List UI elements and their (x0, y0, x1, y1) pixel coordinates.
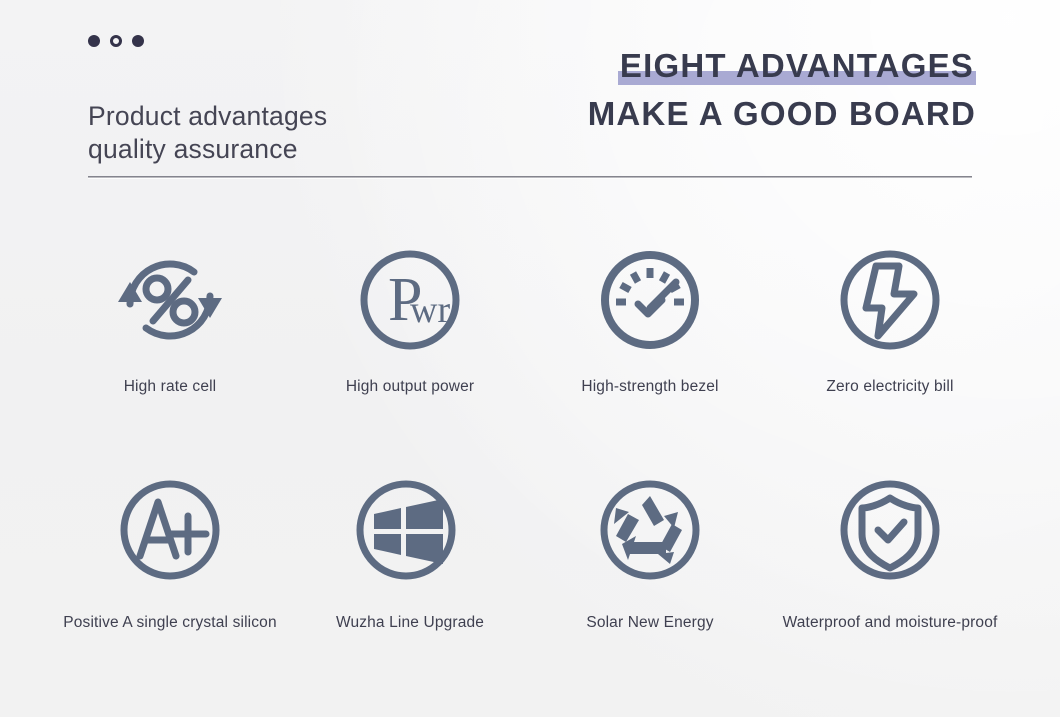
right-heading-line-1: EIGHT ADVANTAGES (618, 46, 976, 86)
percent-refresh-icon (108, 238, 232, 362)
windows-panes-icon (348, 468, 472, 592)
dot-indicator-group (88, 35, 144, 47)
left-heading: Product advantages quality assurance (88, 100, 327, 166)
svg-text:wr: wr (410, 289, 450, 331)
feature-item-high-output-power: P wr High output power (290, 238, 530, 408)
feature-item-waterproof-moisture-proof: Waterproof and moisture-proof (770, 468, 1010, 638)
feature-label: Wuzha Line Upgrade (336, 614, 484, 632)
feature-item-solar-new-energy: Solar New Energy (530, 468, 770, 638)
advantages-infographic: Product advantages quality assurance EIG… (0, 0, 1060, 717)
feature-label: Zero electricity bill (826, 378, 953, 396)
right-heading-line-2: MAKE A GOOD BOARD (588, 92, 976, 136)
feature-label: Solar New Energy (586, 614, 713, 632)
power-pwr-icon: P wr (348, 238, 472, 362)
feature-item-zero-electricity-bill: Zero electricity bill (770, 238, 1010, 408)
feature-item-high-strength-bezel: High-strength bezel (530, 238, 770, 408)
feature-label: High output power (346, 378, 474, 396)
feature-label: Waterproof and moisture-proof (783, 614, 998, 632)
gauge-icon (588, 238, 712, 362)
feature-grid: High rate cell P wr High output power (50, 238, 1010, 638)
a-plus-grade-icon (108, 468, 232, 592)
recycle-icon (588, 468, 712, 592)
lightning-bolt-icon (828, 238, 952, 362)
feature-item-wuzha-line-upgrade: Wuzha Line Upgrade (290, 468, 530, 638)
feature-label: High rate cell (124, 378, 217, 396)
feature-label: High-strength bezel (581, 378, 718, 396)
dot-3-icon (132, 35, 144, 47)
dot-1-icon (88, 35, 100, 47)
dot-2-icon (110, 35, 122, 47)
feature-label: Positive A single crystal silicon (63, 614, 276, 632)
feature-item-positive-a-silicon: Positive A single crystal silicon (50, 468, 290, 638)
right-heading-block: EIGHT ADVANTAGES MAKE A GOOD BOARD (588, 46, 976, 136)
header-divider (88, 176, 972, 179)
shield-check-icon (828, 468, 952, 592)
feature-item-high-rate-cell: High rate cell (50, 238, 290, 408)
